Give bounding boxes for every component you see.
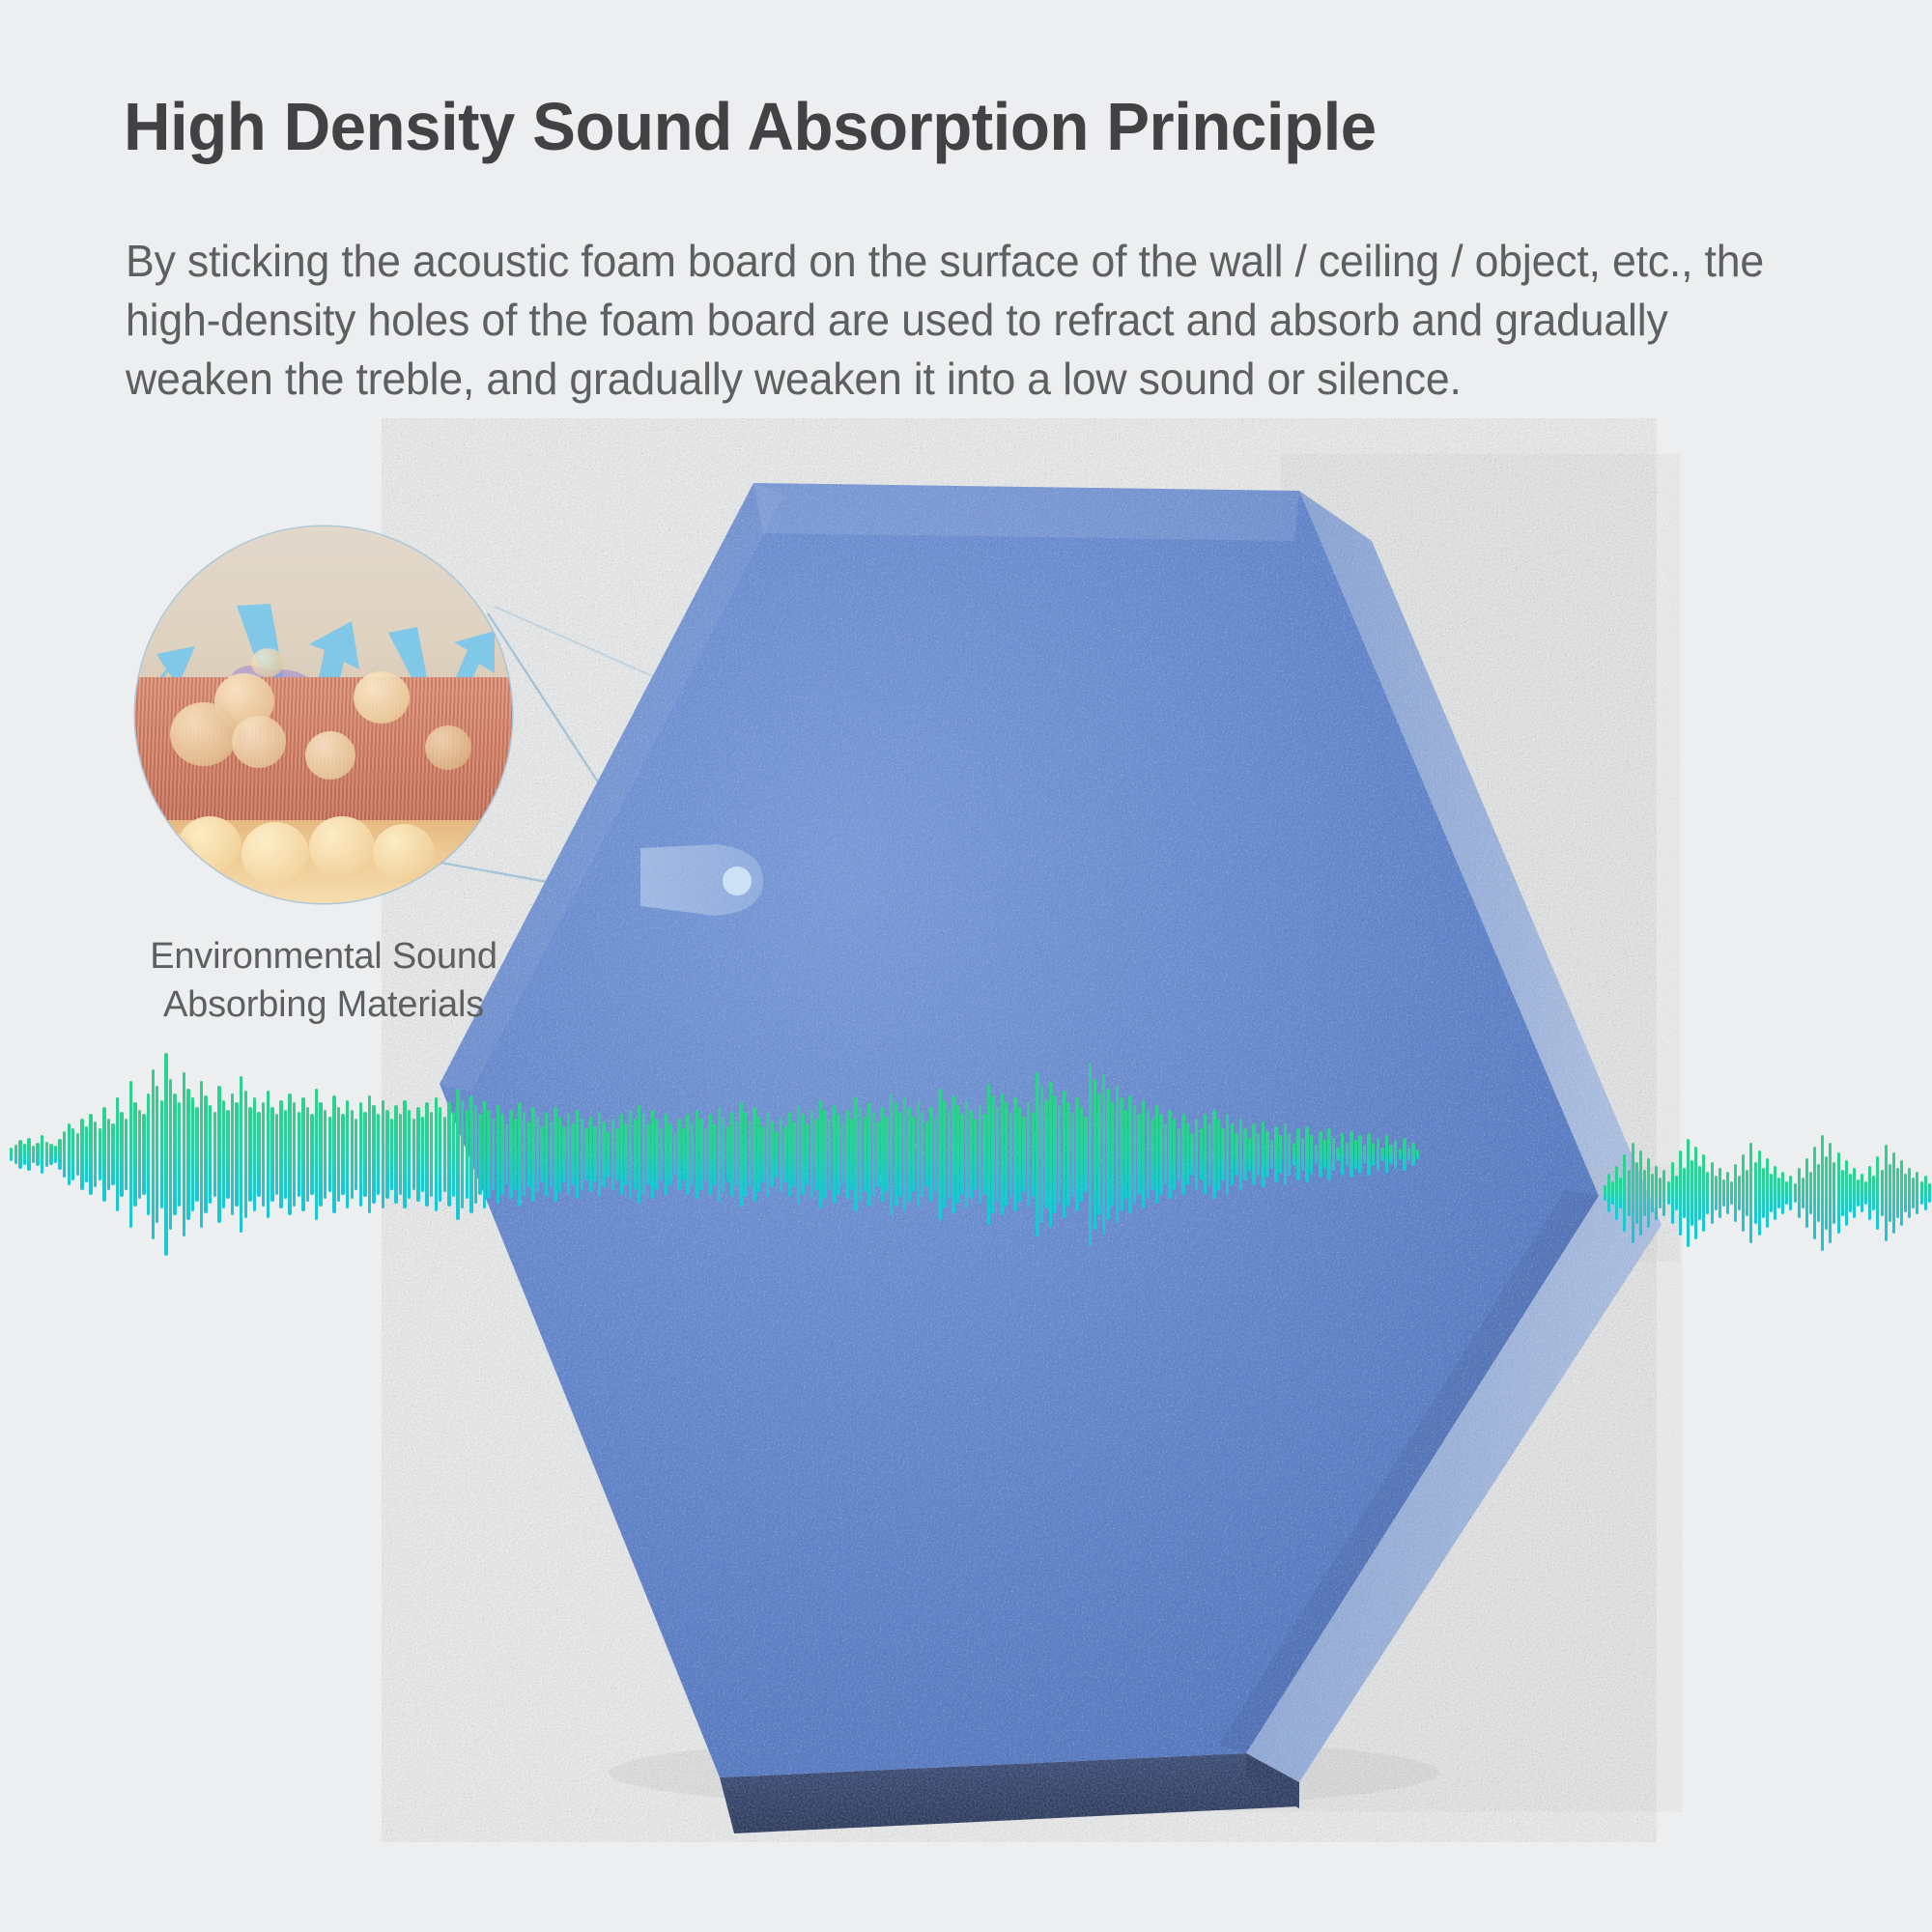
waveform-bar <box>761 1126 764 1183</box>
waveform-bar <box>94 1122 97 1187</box>
waveform-bar <box>1794 1183 1797 1203</box>
waveform-bar <box>655 1119 658 1189</box>
waveform-bar <box>730 1112 733 1197</box>
waveform-bar <box>262 1102 265 1206</box>
waveform-bar <box>1837 1152 1840 1234</box>
waveform-bar <box>1212 1110 1215 1200</box>
waveform-bar <box>1274 1126 1277 1183</box>
waveform-bar <box>668 1123 671 1184</box>
waveform-bar <box>306 1107 309 1202</box>
waveform-bar <box>368 1095 371 1213</box>
waveform-bar <box>355 1119 357 1189</box>
waveform-bar <box>1155 1105 1158 1205</box>
waveform-bar <box>708 1114 711 1194</box>
waveform-bar <box>895 1102 897 1206</box>
waveform-bar <box>1896 1168 1899 1218</box>
waveform-bar <box>1147 1110 1150 1200</box>
waveform-bar <box>1032 1112 1035 1197</box>
waveform-bar <box>337 1107 340 1202</box>
infographic-canvas: High Density Sound Absorption Principle … <box>0 0 1932 1932</box>
waveform-bar <box>284 1110 287 1200</box>
waveform-bar <box>948 1110 951 1200</box>
waveform-bar <box>536 1117 539 1192</box>
waveform-bar <box>1857 1179 1860 1207</box>
waveform-bar <box>545 1112 548 1197</box>
waveform-bar <box>222 1100 225 1208</box>
waveform-bar <box>1257 1133 1260 1176</box>
waveform-bar <box>447 1102 450 1206</box>
waveform-bar <box>452 1112 455 1197</box>
waveform-bar <box>593 1126 596 1183</box>
waveform-bar <box>686 1114 689 1194</box>
waveform-bar <box>244 1091 247 1218</box>
waveform-bar <box>696 1110 698 1200</box>
waveform-bar <box>1841 1170 1844 1216</box>
waveform-bar <box>32 1146 35 1162</box>
waveform-bar <box>1133 1105 1136 1205</box>
waveform-bar <box>1217 1119 1220 1189</box>
waveform-bar <box>615 1128 618 1180</box>
waveform-bar <box>907 1107 910 1202</box>
waveform-bar <box>1607 1174 1610 1212</box>
waveform-bar <box>1817 1164 1820 1222</box>
waveform-bar <box>1288 1133 1291 1176</box>
waveform-bar <box>810 1110 813 1200</box>
waveform-bar <box>1671 1162 1674 1224</box>
waveform-bar <box>1319 1131 1321 1179</box>
waveform-bar <box>925 1122 928 1187</box>
waveform-bar <box>780 1117 782 1192</box>
waveform-bar <box>1235 1133 1237 1176</box>
waveform-bar <box>859 1107 862 1202</box>
waveform-bar <box>806 1123 809 1184</box>
waveform-bar <box>1151 1119 1153 1189</box>
waveform-bar <box>363 1112 366 1197</box>
waveform-bar <box>1089 1063 1092 1246</box>
waveform-bar <box>257 1112 260 1197</box>
waveform-bar <box>1742 1154 1745 1232</box>
waveform-bar <box>938 1089 941 1221</box>
waveform-bar <box>49 1144 52 1165</box>
waveform-bar <box>478 1114 481 1194</box>
waveform-bar <box>298 1112 300 1197</box>
waveform-bar <box>1758 1151 1761 1236</box>
waveform-bar <box>315 1089 318 1221</box>
waveform-bar <box>1619 1178 1622 1208</box>
waveform-bar <box>1204 1114 1207 1194</box>
waveform-bar <box>89 1114 92 1194</box>
waveform-bar <box>1904 1174 1907 1212</box>
waveform-bar <box>164 1053 167 1256</box>
waveform-bar <box>624 1123 627 1184</box>
waveform-bar <box>665 1114 668 1194</box>
waveform-bar <box>1248 1138 1251 1171</box>
waveform-bar <box>160 1100 163 1208</box>
waveform-bar <box>390 1119 393 1189</box>
waveform-bar <box>952 1095 954 1213</box>
waveform-bar <box>76 1133 79 1176</box>
waveform-bar <box>439 1107 441 1202</box>
waveform-bar <box>1310 1135 1313 1173</box>
waveform-bar <box>45 1142 48 1168</box>
waveform-bar <box>982 1114 985 1194</box>
waveform-bar <box>514 1119 517 1189</box>
waveform-bar <box>99 1128 101 1180</box>
waveform-bar <box>116 1097 119 1210</box>
waveform-bar <box>372 1105 375 1205</box>
waveform-bar <box>1845 1160 1848 1226</box>
waveform-bar <box>1647 1158 1650 1228</box>
waveform-bar <box>1662 1170 1665 1216</box>
waveform-bar <box>1231 1123 1234 1184</box>
waveform-bar <box>837 1114 839 1194</box>
waveform-bar <box>1049 1081 1052 1227</box>
waveform-bar <box>1252 1123 1255 1184</box>
waveform-bar <box>1315 1145 1318 1164</box>
waveform-bar <box>1094 1079 1096 1230</box>
waveform-bar <box>1825 1156 1828 1230</box>
waveform-bar <box>917 1102 920 1206</box>
waveform-bar <box>1849 1174 1852 1212</box>
waveform-bar <box>744 1112 747 1197</box>
waveform-bar <box>288 1094 291 1216</box>
waveform-bar <box>1912 1178 1915 1208</box>
waveform-bar <box>584 1128 587 1180</box>
waveform-bar <box>1239 1119 1242 1189</box>
waveform-bar <box>531 1107 534 1202</box>
waveform-bar <box>1005 1102 1008 1206</box>
waveform-bar <box>1615 1166 1618 1220</box>
waveform-bar <box>191 1097 194 1210</box>
waveform-bar <box>487 1110 490 1200</box>
waveform-bar <box>217 1086 220 1223</box>
waveform-bar <box>607 1131 610 1179</box>
waveform-bar <box>142 1114 145 1194</box>
waveform-bar <box>1687 1139 1690 1247</box>
waveform-bar <box>1628 1170 1631 1216</box>
waveform-bar <box>156 1086 158 1223</box>
waveform-bar <box>801 1114 804 1194</box>
waveform-bar <box>435 1097 438 1210</box>
waveform-bar <box>408 1110 411 1200</box>
waveform-bar <box>718 1107 721 1202</box>
waveform-bar <box>173 1094 176 1216</box>
waveform-bar <box>416 1107 419 1202</box>
waveform-bar <box>1013 1097 1016 1210</box>
waveform-bar <box>36 1143 39 1166</box>
waveform-bar <box>102 1107 105 1202</box>
waveform-bar <box>876 1122 879 1187</box>
waveform-bar <box>382 1100 384 1208</box>
waveform-bar <box>890 1094 893 1216</box>
waveform-bar <box>1137 1114 1140 1194</box>
waveform-bar <box>120 1112 123 1197</box>
waveform-bar <box>651 1110 654 1200</box>
waveform-bar <box>638 1105 640 1205</box>
waveform-bar <box>965 1100 968 1208</box>
waveform-bar <box>231 1094 234 1216</box>
waveform-bar <box>885 1117 888 1192</box>
waveform-bar <box>1734 1164 1737 1222</box>
magnified-material-inset <box>135 526 512 903</box>
waveform-bar <box>351 1110 354 1200</box>
waveform-bar <box>1159 1114 1162 1194</box>
waveform-bar <box>1367 1133 1370 1176</box>
waveform-bar <box>581 1119 583 1189</box>
waveform-bar <box>1208 1123 1211 1184</box>
waveform-bar <box>186 1089 189 1221</box>
waveform-bar <box>1243 1128 1246 1180</box>
waveform-bar <box>1659 1178 1662 1208</box>
waveform-bar <box>1195 1119 1198 1189</box>
waveform-bar <box>147 1094 150 1216</box>
waveform-bar <box>1679 1151 1682 1236</box>
waveform-bar <box>735 1122 738 1187</box>
waveform-bar <box>1667 1181 1670 1205</box>
waveform-bar <box>1881 1170 1884 1216</box>
waveform-bar <box>996 1107 999 1202</box>
waveform-bar <box>1075 1097 1078 1210</box>
waveform-bar <box>960 1114 963 1194</box>
waveform-bar <box>1124 1110 1127 1200</box>
waveform-bar <box>129 1081 132 1227</box>
waveform-bar <box>209 1105 212 1205</box>
waveform-bar <box>253 1097 256 1210</box>
waveform-bar <box>1639 1151 1642 1236</box>
waveform-bar <box>1706 1172 1709 1214</box>
waveform-bar <box>956 1105 959 1205</box>
waveform-bar <box>138 1110 141 1200</box>
waveform-bar <box>841 1123 844 1184</box>
waveform-bar <box>133 1102 136 1206</box>
waveform-bar <box>1730 1181 1733 1205</box>
waveform-bar <box>1305 1126 1308 1183</box>
waveform-bar <box>987 1084 990 1226</box>
waveform-bar <box>54 1146 57 1162</box>
waveform-bar <box>399 1114 402 1194</box>
waveform-bar <box>602 1122 605 1187</box>
waveform-bar <box>1178 1128 1180 1180</box>
waveform-bar <box>71 1128 74 1180</box>
waveform-bar <box>1774 1166 1776 1220</box>
waveform-bar <box>969 1110 972 1200</box>
waveform-bar <box>1270 1140 1273 1168</box>
waveform-bar <box>10 1148 13 1162</box>
waveform-bar <box>1084 1117 1087 1192</box>
waveform-bar <box>699 1119 702 1189</box>
waveform-bar <box>341 1114 344 1194</box>
waveform-bar <box>483 1100 486 1208</box>
waveform-bar <box>1632 1143 1634 1243</box>
waveform-bar <box>1407 1148 1410 1162</box>
waveform-bar <box>1876 1156 1879 1230</box>
waveform-bar <box>1872 1176 1875 1210</box>
waveform-bar <box>562 1126 565 1183</box>
waveform-bar <box>226 1110 229 1200</box>
waveform-bar <box>152 1069 155 1239</box>
waveform-bar <box>1071 1112 1074 1197</box>
waveform-bar <box>833 1105 836 1205</box>
waveform-bar <box>1262 1122 1264 1187</box>
waveform-bar <box>1336 1148 1339 1162</box>
waveform-bar <box>1781 1172 1784 1214</box>
waveform-bar <box>1411 1143 1414 1166</box>
waveform-bar <box>864 1117 867 1192</box>
waveform-bar <box>469 1095 472 1213</box>
waveform-bar <box>523 1112 526 1197</box>
waveform-bar <box>1265 1131 1268 1179</box>
waveform-bar <box>903 1097 906 1210</box>
waveform-bar <box>1690 1160 1693 1226</box>
waveform-bar <box>934 1117 937 1192</box>
waveform-bar <box>1018 1107 1021 1202</box>
waveform-bar <box>267 1091 270 1218</box>
waveform-bar <box>1346 1143 1349 1166</box>
waveform-bar <box>1623 1154 1626 1232</box>
waveform-bar <box>642 1114 645 1194</box>
waveform-bar <box>1746 1170 1748 1216</box>
waveform-bar <box>1293 1143 1295 1166</box>
waveform-bar <box>783 1126 786 1183</box>
waveform-bar <box>757 1117 760 1192</box>
waveform-bar <box>797 1105 800 1205</box>
waveform-bar <box>1789 1176 1792 1210</box>
waveform-bar <box>169 1079 172 1230</box>
waveform-bar <box>1102 1074 1105 1235</box>
waveform-bar <box>1044 1100 1047 1208</box>
waveform-bar <box>749 1122 752 1187</box>
waveform-bar <box>1399 1149 1402 1160</box>
waveform-bar <box>979 1105 981 1205</box>
waveform-bar <box>279 1100 282 1208</box>
waveform-bar <box>775 1131 778 1179</box>
waveform-bar <box>629 1110 632 1200</box>
waveform-bar <box>328 1117 331 1192</box>
waveform-bar <box>792 1122 795 1187</box>
waveform-bar <box>646 1123 649 1184</box>
waveform-bar <box>974 1119 977 1189</box>
waveform-bar <box>929 1107 932 1202</box>
waveform-bar <box>1892 1152 1895 1234</box>
waveform-bar <box>107 1119 110 1189</box>
waveform-bar <box>1058 1105 1061 1205</box>
waveform-bar <box>111 1123 114 1184</box>
waveform-bar <box>567 1114 570 1194</box>
waveform-bar <box>1027 1102 1030 1206</box>
waveform-bar <box>1604 1185 1606 1201</box>
waveform-bar <box>1363 1145 1366 1164</box>
waveform-bar <box>1694 1147 1697 1239</box>
waveform-bar <box>1063 1091 1065 1218</box>
waveform-bar <box>461 1100 464 1208</box>
waveform-bar <box>1168 1110 1171 1200</box>
waveform-bar <box>1635 1162 1638 1224</box>
waveform-bar <box>1394 1140 1397 1168</box>
waveform-bar <box>1120 1097 1122 1210</box>
waveform-bar <box>704 1128 707 1180</box>
waveform-bar <box>739 1102 742 1206</box>
waveform-bar <box>571 1123 574 1184</box>
waveform-bar <box>589 1117 592 1192</box>
inset-caption: Environmental Sound Absorbing Materials <box>92 932 555 1029</box>
waveform-bar <box>1053 1095 1056 1213</box>
waveform-bar <box>324 1110 327 1200</box>
waveform-bar <box>1754 1162 1757 1224</box>
waveform-bar <box>85 1126 88 1183</box>
waveform-bar <box>195 1107 198 1202</box>
waveform-bar <box>41 1135 43 1173</box>
waveform-bar <box>1853 1168 1856 1218</box>
attenuated-sound-waveform <box>1604 1121 1932 1265</box>
waveform-bar <box>500 1114 503 1194</box>
waveform-bar <box>1722 1179 1725 1207</box>
waveform-bar <box>1861 1174 1863 1212</box>
waveform-bar <box>1770 1174 1773 1212</box>
waveform-bar <box>319 1102 322 1206</box>
waveform-bar <box>823 1110 826 1200</box>
waveform-bar <box>1327 1128 1330 1180</box>
waveform-bar <box>1296 1128 1299 1180</box>
waveform-bar <box>770 1122 773 1187</box>
waveform-bar <box>1829 1143 1832 1243</box>
waveform-bar <box>1711 1162 1714 1224</box>
waveform-bar <box>270 1107 273 1202</box>
waveform-bar <box>943 1100 946 1208</box>
waveform-bar <box>1683 1168 1686 1218</box>
waveform-bar <box>1279 1135 1282 1173</box>
waveform-bar <box>1226 1114 1229 1194</box>
waveform-bar <box>1885 1145 1888 1241</box>
waveform-bar <box>1698 1166 1701 1220</box>
waveform-bar <box>1805 1158 1808 1228</box>
waveform-bar <box>492 1119 495 1189</box>
waveform-bar <box>346 1100 349 1208</box>
material-cross-section-icon <box>135 526 512 903</box>
waveform-bar <box>332 1095 335 1213</box>
incoming-sound-waveform <box>10 1048 898 1261</box>
waveform-bar <box>1920 1181 1923 1205</box>
waveform-bar <box>18 1140 21 1168</box>
waveform-bar <box>673 1133 676 1176</box>
waveform-bar <box>1066 1102 1069 1206</box>
waveform-bar <box>682 1128 685 1180</box>
waveform-bar <box>200 1081 203 1227</box>
waveform-bar <box>872 1112 875 1197</box>
waveform-bar <box>554 1107 556 1202</box>
waveform-bar <box>991 1095 994 1213</box>
waveform-bar <box>1377 1138 1379 1171</box>
waveform-bar <box>1900 1160 1903 1226</box>
waveform-bar <box>1809 1172 1812 1214</box>
waveform-bar <box>1036 1072 1038 1237</box>
waveform-bar <box>275 1114 278 1194</box>
waveform-bar <box>1651 1174 1654 1212</box>
inset-caption-line-2: Absorbing Materials <box>92 980 555 1029</box>
waveform-bar <box>1611 1181 1614 1205</box>
waveform-bar <box>1821 1135 1824 1251</box>
waveform-bar <box>204 1095 207 1213</box>
waveform-bar <box>1777 1178 1780 1208</box>
waveform-bar <box>1802 1178 1804 1208</box>
waveform-bar <box>881 1107 884 1202</box>
waveform-bar <box>867 1102 870 1206</box>
waveform-bar <box>235 1102 238 1206</box>
waveform-bar <box>1221 1128 1224 1180</box>
waveform-bar <box>425 1102 428 1206</box>
waveform-bar <box>1200 1128 1203 1180</box>
waveform-bar <box>611 1119 614 1189</box>
waveform-bar <box>1798 1168 1801 1218</box>
